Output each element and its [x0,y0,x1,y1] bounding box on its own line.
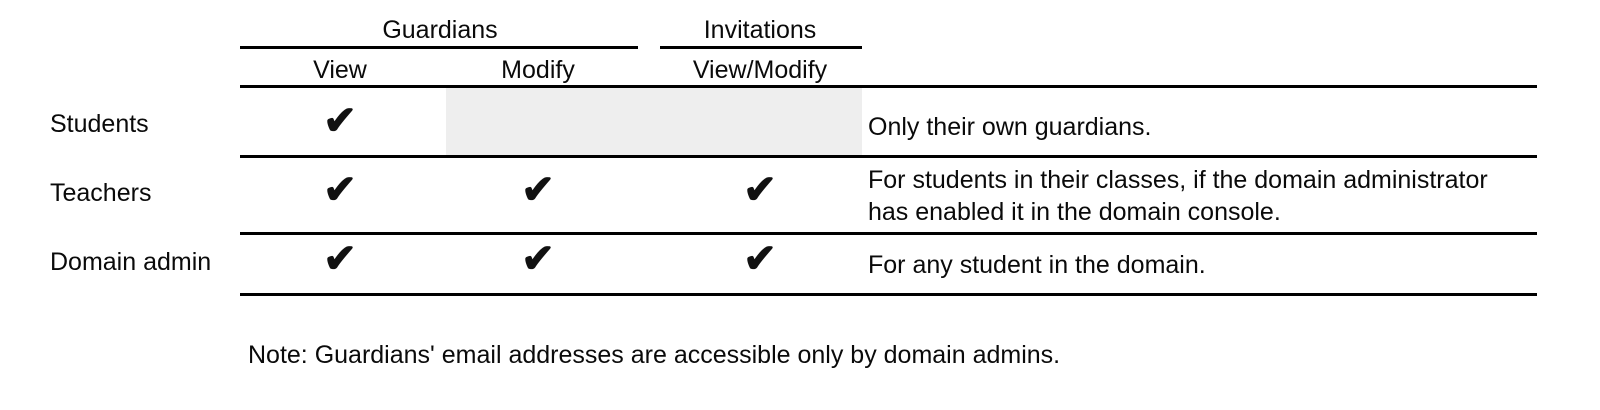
checkmark-icon-teachers-invitations-view-modify: ✔ [743,170,777,210]
rule-row-teachers-bottom [240,232,1537,235]
rule-row-students-bottom [240,155,1537,158]
table-footnote: Note: Guardians' email addresses are acc… [248,341,1060,370]
rule-under-invitations-group [660,46,862,49]
row-description-teachers: For students in their classes, if the do… [868,164,1518,228]
checkmark-icon-domain-admin-invitations-view-modify: ✔ [743,239,777,279]
column-group-header-invitations: Invitations [704,18,817,43]
row-label-students: Students [50,112,149,137]
checkmark-icon-domain-admin-guardians-view: ✔ [323,239,357,279]
row-description-domain-admin: For any student in the domain. [868,249,1518,281]
column-group-header-guardians: Guardians [382,18,497,43]
rule-table-bottom [240,293,1537,296]
rule-under-guardians-group [240,46,638,49]
column-header-guardians-modify: Modify [501,58,575,83]
row-label-domain-admin: Domain admin [50,250,211,275]
column-header-invitations-view-modify: View/Modify [693,58,827,83]
column-header-guardians-view: View [313,58,367,83]
checkmark-icon-domain-admin-guardians-modify: ✔ [521,239,555,279]
checkmark-icon-teachers-guardians-view: ✔ [323,170,357,210]
checkmark-icon-teachers-guardians-modify: ✔ [521,170,555,210]
disabled-cell-students-modify [446,88,862,155]
row-description-students: Only their own guardians. [868,111,1518,143]
permissions-table: Guardians Invitations View Modify View/M… [0,0,1600,410]
row-label-teachers: Teachers [50,181,151,206]
rule-header-bottom [240,85,1537,88]
checkmark-icon-students-guardians-view: ✔ [323,101,357,141]
